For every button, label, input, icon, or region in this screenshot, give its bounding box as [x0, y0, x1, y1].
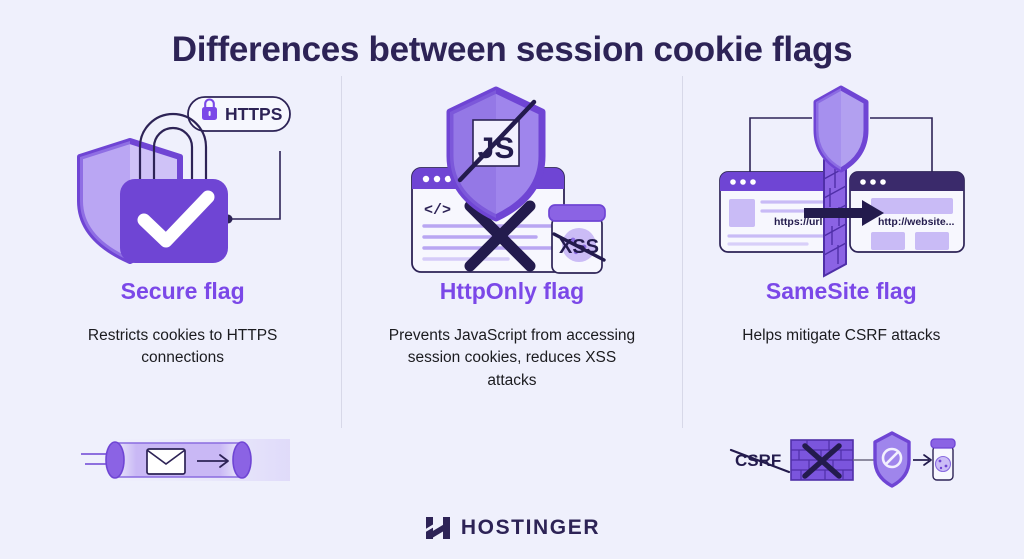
column-heading-secure: Secure flag	[121, 278, 245, 305]
csrf-blocked-illustration: CSRF	[677, 427, 1006, 497]
httponly-art-bottom-empty	[347, 427, 676, 497]
brand-name: HOSTINGER	[461, 516, 600, 540]
https-badge-label: HTTPS	[225, 104, 282, 124]
right-url-label: http://website...	[878, 216, 955, 228]
infographic-page: Differences between session cookie flags	[0, 0, 1024, 559]
secure-tunnel-illustration	[18, 427, 347, 497]
js-label: JS	[478, 132, 515, 165]
footer-brand: HOSTINGER	[0, 497, 1024, 559]
columns-container: HTTPS Secure	[0, 70, 1024, 497]
column-description-samesite: Helps mitigate CSRF attacks	[742, 325, 940, 347]
column-heading-httponly: HttpOnly flag	[440, 278, 584, 305]
column-description-secure: Restricts cookies to HTTPS connections	[58, 325, 308, 370]
column-httponly-flag: </>	[347, 86, 676, 497]
arrow-right-icon	[913, 455, 931, 465]
hostinger-h-logo	[424, 514, 452, 542]
cross-site-firewall-illustration: https://url... http://website...	[677, 86, 1006, 276]
tunnel-icon	[106, 442, 124, 478]
shield-icon: JS	[450, 90, 542, 218]
column-description-httponly: Prevents JavaScript from accessing sessi…	[387, 325, 637, 392]
column-samesite-flag: https://url... http://website...	[677, 86, 1006, 497]
brick-wall-icon	[791, 440, 853, 480]
shield-ban-icon	[875, 433, 909, 486]
shield-icon	[816, 88, 866, 170]
column-secure-flag: HTTPS Secure	[18, 86, 347, 497]
code-tag-label: </>	[424, 202, 451, 219]
title-section: Differences between session cookie flags	[0, 0, 1024, 70]
cookie-jar-icon: XSS	[549, 205, 605, 273]
column-heading-samesite: SameSite flag	[766, 278, 917, 305]
envelope-icon	[147, 449, 185, 474]
padlock-icon	[120, 179, 228, 263]
shield-js-blocked-illustration: </>	[347, 86, 676, 276]
page-title: Differences between session cookie flags	[0, 30, 1024, 70]
cookie-jar-icon	[931, 439, 955, 480]
csrf-label-group: CSRF	[731, 450, 789, 472]
padlock-shield-https-illustration: HTTPS	[18, 86, 347, 276]
https-badge: HTTPS	[188, 97, 290, 131]
